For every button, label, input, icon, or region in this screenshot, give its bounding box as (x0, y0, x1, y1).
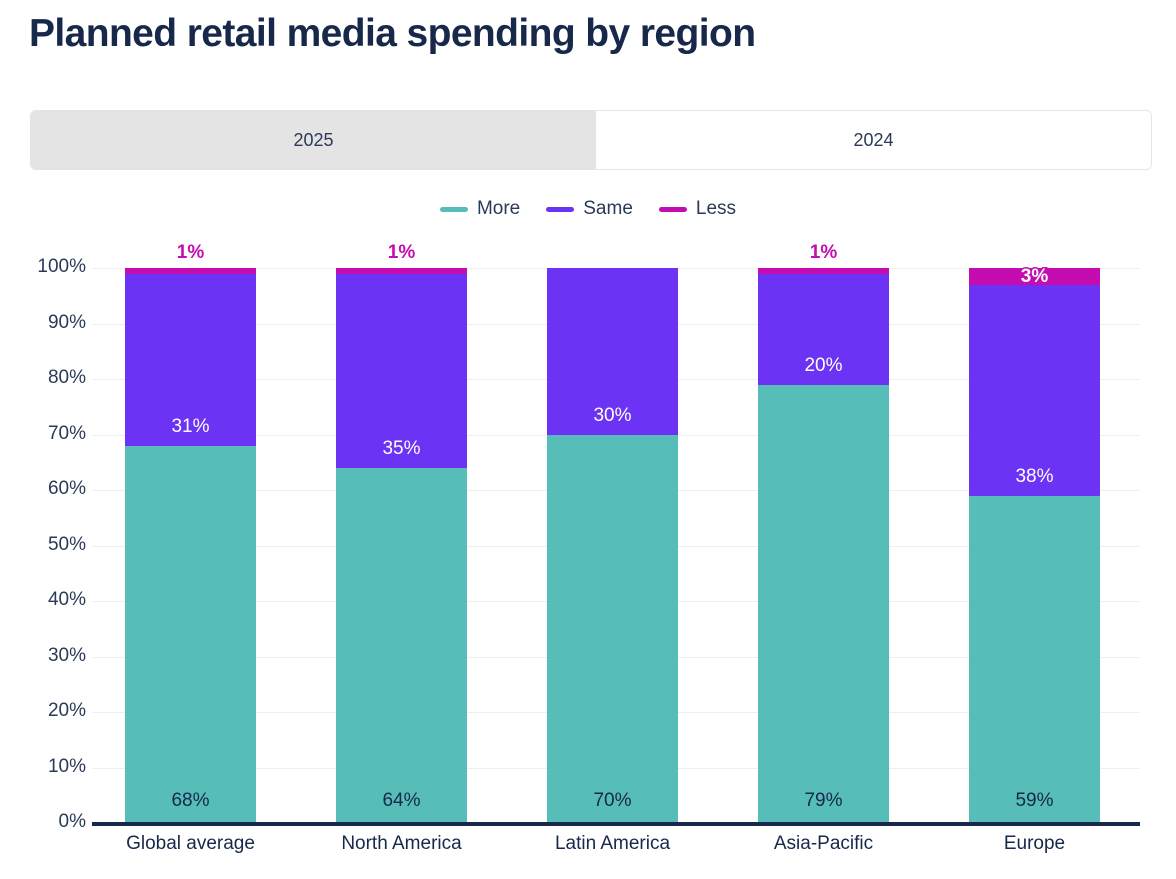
gridline (92, 768, 1140, 769)
y-axis-tick-label: 70% (6, 423, 86, 445)
segment-value-label-less: 3% (969, 266, 1100, 288)
x-axis-tick-label: Latin America (503, 833, 723, 855)
legend-label-more: More (477, 198, 520, 220)
gridline (92, 490, 1140, 491)
segment-value-label-same: 20% (758, 355, 889, 377)
bar-segment-more[interactable] (758, 385, 889, 823)
segment-value-label-more: 64% (336, 790, 467, 812)
tab-2024-label: 2024 (853, 130, 893, 151)
segment-value-label-same: 31% (125, 416, 256, 438)
bar-segment-more[interactable] (969, 496, 1100, 823)
gridline (92, 324, 1140, 325)
y-axis-tick-label: 40% (6, 589, 86, 611)
bar-segment-more[interactable] (547, 435, 678, 824)
legend-swatch-same-icon (546, 207, 574, 212)
bar-segment-less[interactable] (336, 268, 467, 274)
segment-value-label-same: 30% (547, 405, 678, 427)
bar-stack[interactable]: 59%38%3% (969, 268, 1100, 823)
y-axis-tick-label: 10% (6, 756, 86, 778)
gridline (92, 546, 1140, 547)
legend-label-less: Less (696, 198, 736, 220)
bar-segment-same[interactable] (758, 274, 889, 385)
year-tab-bar: 2025 2024 (30, 110, 1152, 170)
y-axis-tick-label: 90% (6, 312, 86, 334)
legend-item-more[interactable]: More (440, 198, 520, 220)
bar-segment-same[interactable] (125, 274, 256, 446)
legend-swatch-less-icon (659, 207, 687, 212)
bar-segment-same[interactable] (336, 274, 467, 468)
y-axis-tick-label: 100% (6, 256, 86, 278)
segment-value-label-less: 1% (758, 242, 889, 264)
bar-segment-less[interactable] (969, 268, 1100, 285)
plot-area: 68%31%1%64%35%1%70%30%79%20%1%59%38%3% (92, 268, 1140, 823)
bar-stack[interactable]: 64%35%1% (336, 268, 467, 823)
y-axis-tick-label: 30% (6, 645, 86, 667)
x-axis-tick-label: North America (292, 833, 512, 855)
gridline (92, 712, 1140, 713)
tab-2025[interactable]: 2025 (31, 111, 596, 169)
bar-stack[interactable]: 68%31%1% (125, 268, 256, 823)
legend-label-same: Same (583, 198, 633, 220)
y-axis-tick-label: 20% (6, 700, 86, 722)
gridline (92, 435, 1140, 436)
segment-value-label-more: 59% (969, 790, 1100, 812)
tab-2025-label: 2025 (293, 130, 333, 151)
segment-value-label-less: 1% (336, 242, 467, 264)
legend-item-less[interactable]: Less (659, 198, 736, 220)
chart-legend: More Same Less (0, 198, 1176, 220)
bar-segment-same[interactable] (547, 268, 678, 435)
bar-segment-same[interactable] (969, 285, 1100, 496)
y-axis-tick-label: 80% (6, 367, 86, 389)
x-axis-tick-label: Global average (81, 833, 301, 855)
bar-stack[interactable]: 79%20%1% (758, 268, 889, 823)
legend-item-same[interactable]: Same (546, 198, 633, 220)
page-title: Planned retail media spending by region (29, 12, 755, 56)
x-axis-line (92, 822, 1140, 826)
segment-value-label-more: 79% (758, 790, 889, 812)
segment-value-label-less: 1% (125, 242, 256, 264)
gridline (92, 657, 1140, 658)
gridline (92, 268, 1140, 269)
segment-value-label-more: 70% (547, 790, 678, 812)
y-axis-tick-label: 0% (6, 811, 86, 833)
legend-swatch-more-icon (440, 207, 468, 212)
bar-stack[interactable]: 70%30% (547, 268, 678, 823)
x-axis-tick-label: Europe (925, 833, 1145, 855)
segment-value-label-more: 68% (125, 790, 256, 812)
y-axis-tick-label: 50% (6, 534, 86, 556)
bar-segment-less[interactable] (125, 268, 256, 274)
bar-segment-more[interactable] (336, 468, 467, 823)
y-axis-tick-label: 60% (6, 478, 86, 500)
gridline (92, 379, 1140, 380)
bar-segment-less[interactable] (758, 268, 889, 274)
bar-segment-more[interactable] (125, 446, 256, 823)
gridline (92, 601, 1140, 602)
segment-value-label-same: 38% (969, 466, 1100, 488)
x-axis-tick-label: Asia-Pacific (714, 833, 934, 855)
tab-2024[interactable]: 2024 (596, 111, 1151, 169)
segment-value-label-same: 35% (336, 438, 467, 460)
